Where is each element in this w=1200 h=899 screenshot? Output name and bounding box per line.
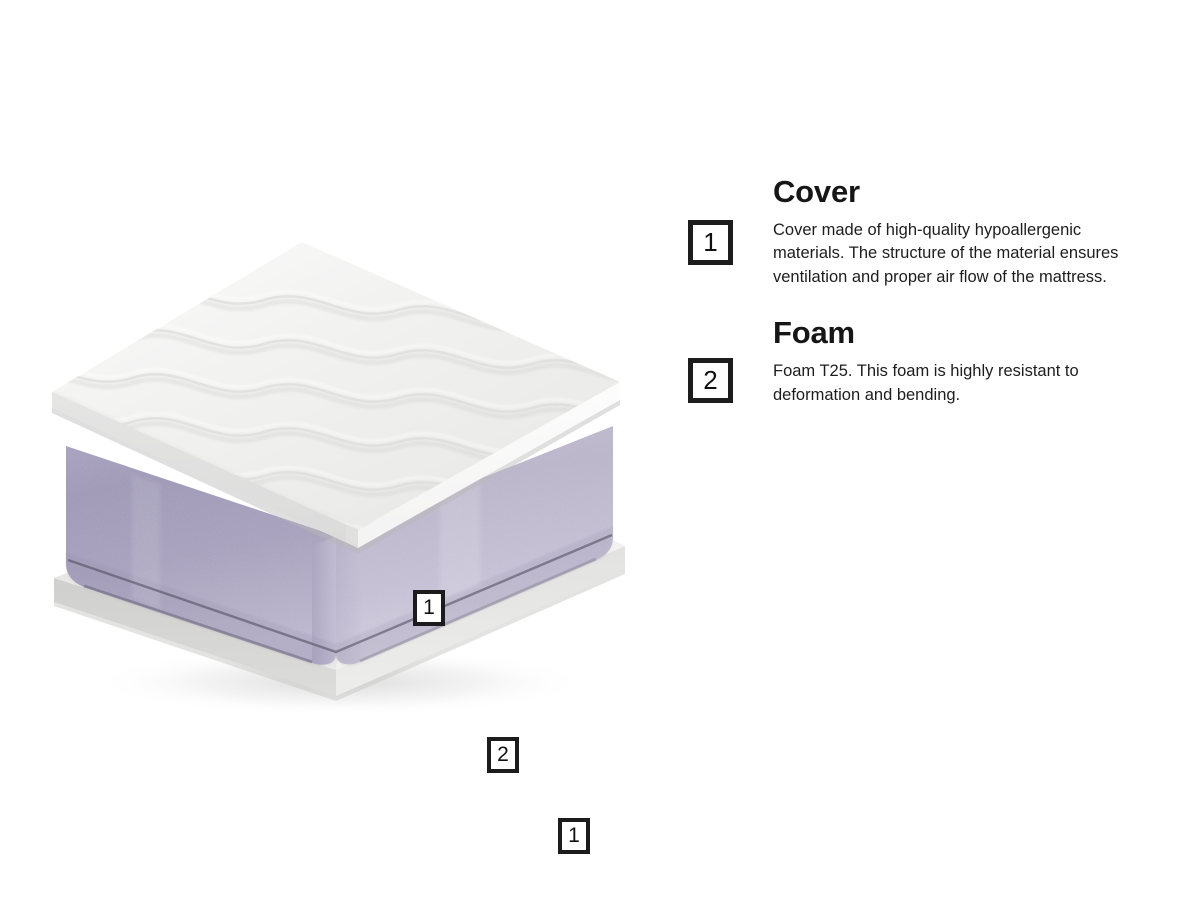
legend-heading-foam: Foam <box>773 317 1145 348</box>
hotspot-badge-foam[interactable]: 2 <box>487 737 519 773</box>
legend-heading-cover: Cover <box>773 176 1145 207</box>
legend-marker-2[interactable]: 2 <box>688 358 733 403</box>
hotspot-badge-cover-top[interactable]: 1 <box>413 590 445 626</box>
legend-entry-cover[interactable]: 1 Cover Cover made of high-quality hypoa… <box>688 176 1158 289</box>
legend-body-foam: Foam Foam T25. This foam is highly resis… <box>773 317 1145 407</box>
legend-entry-foam[interactable]: 2 Foam Foam T25. This foam is highly res… <box>688 317 1158 407</box>
legend-panel: 1 Cover Cover made of high-quality hypoa… <box>688 176 1158 433</box>
legend-description-cover: Cover made of high-quality hypoallergeni… <box>773 219 1145 289</box>
hotspot-badge-cover-base[interactable]: 1 <box>558 818 590 854</box>
legend-description-foam: Foam T25. This foam is highly resistant … <box>773 360 1145 407</box>
legend-marker-1[interactable]: 1 <box>688 220 733 265</box>
legend-body-cover: Cover Cover made of high-quality hypoall… <box>773 176 1145 289</box>
diagram-stage: 1 2 1 1 Cover Cover made of high-quality… <box>0 0 1200 899</box>
mattress-illustration: 1 2 1 <box>40 230 660 730</box>
